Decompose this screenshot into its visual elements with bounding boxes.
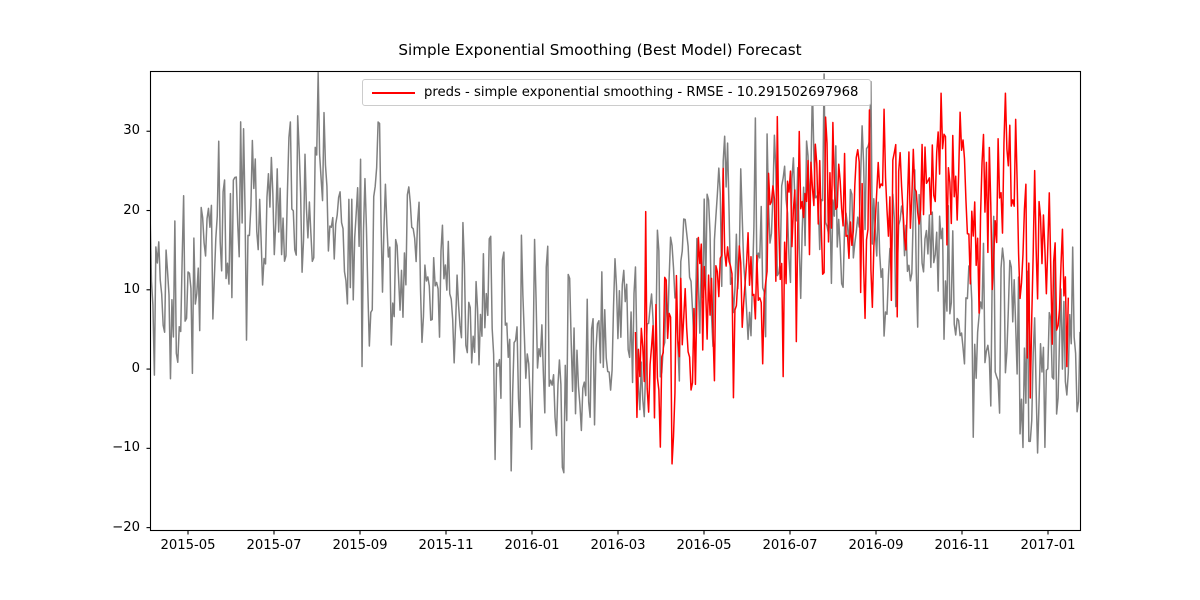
y-tick-label: −10 <box>84 440 140 455</box>
y-tick-label: 0 <box>84 361 140 376</box>
x-tick-label: 2017-01 <box>998 538 1098 553</box>
x-tick-label: 2016-07 <box>740 538 840 553</box>
x-tick-label: 2016-01 <box>482 538 582 553</box>
y-tick-label: 10 <box>84 282 140 297</box>
x-tick-label: 2015-07 <box>224 538 324 553</box>
x-tick-label: 2016-05 <box>654 538 754 553</box>
x-tick-label: 2016-09 <box>826 538 926 553</box>
x-tick-label: 2015-09 <box>310 538 410 553</box>
series-layer <box>150 73 1080 473</box>
x-tick-label: 2015-05 <box>138 538 238 553</box>
y-tick-label: −20 <box>84 520 140 535</box>
matplotlib-figure: Simple Exponential Smoothing (Best Model… <box>0 0 1200 600</box>
chart-legend: preds - simple exponential smoothing - R… <box>362 79 871 106</box>
y-tick-label: 30 <box>84 123 140 138</box>
x-tick-label: 2016-03 <box>568 538 668 553</box>
y-tick-label: 20 <box>84 203 140 218</box>
legend-line-swatch-preds <box>372 92 415 94</box>
x-tick-label: 2015-11 <box>396 538 496 553</box>
legend-label-preds: preds - simple exponential smoothing - R… <box>424 85 858 100</box>
x-tick-label: 2016-11 <box>912 538 1012 553</box>
